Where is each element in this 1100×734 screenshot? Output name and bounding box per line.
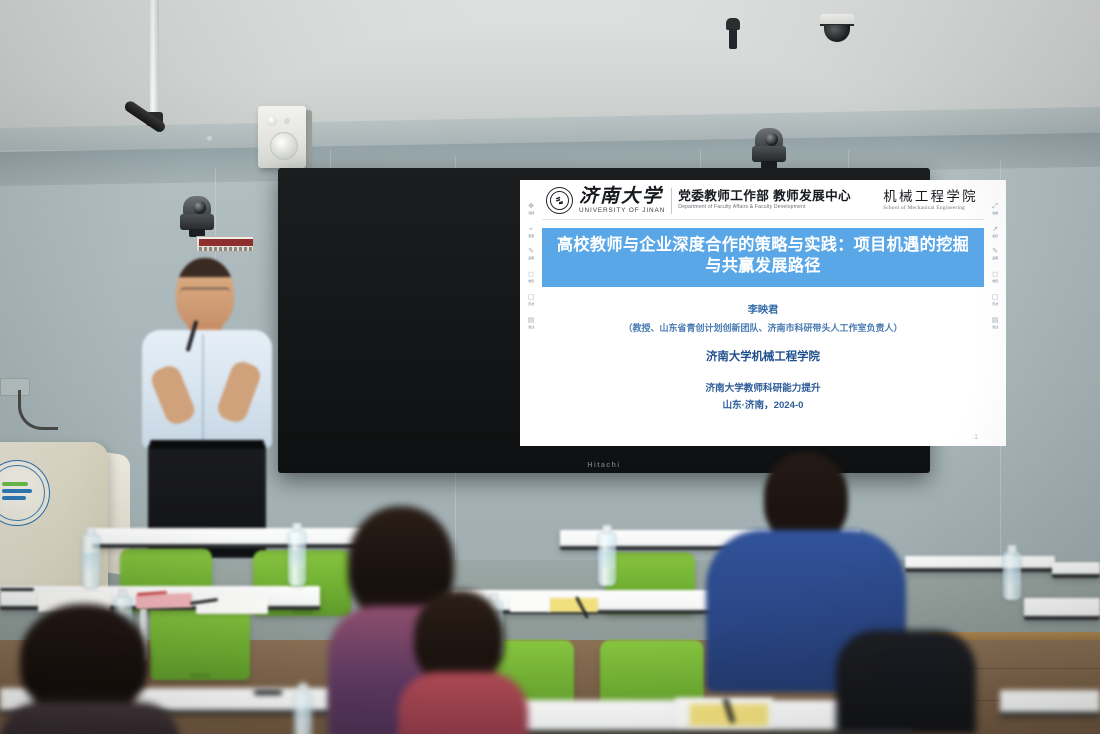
ptz-camera-left — [180, 196, 214, 236]
desk — [905, 556, 1055, 572]
warning-sign-text — [199, 247, 253, 252]
classroom-photo-scene: Hitachi ✥ 选择 ⌁ 套索 ✎ 画笔 ◻ 橡皮 — [0, 0, 1100, 734]
camera-lens-icon — [765, 133, 778, 146]
eraser-icon: ◻ — [991, 270, 1000, 279]
zoom-icon: ⤢ — [991, 202, 1000, 211]
handout-yellow — [548, 598, 598, 612]
toolbar-item-shape[interactable]: ▢ 形状 — [991, 293, 1000, 307]
slide-toolbar-right[interactable]: ⤢ 缩放 ↗ 指针 ✎ 画笔 ◻ 橡皮 ▢ 形状 — [984, 180, 1006, 446]
display-brand-logo: Hitachi — [587, 462, 620, 469]
toolbar-item-eraser[interactable]: ◻ 橡皮 — [991, 270, 1000, 284]
shape-icon: ▢ — [527, 293, 536, 302]
bottle-cap — [293, 523, 302, 532]
pen — [0, 588, 34, 591]
toolbar-item-pointer[interactable]: ↗ 指针 — [991, 225, 1000, 239]
header-divider — [671, 188, 672, 214]
audience-mid-left — [398, 590, 528, 734]
small-ceiling-camera — [726, 18, 740, 50]
toolbar-item-pen[interactable]: ✎ 画笔 — [527, 247, 536, 261]
select-icon: ✥ — [527, 202, 536, 211]
warning-sign-strip — [199, 239, 253, 246]
presenter-role: （教授、山东省青创计划创新团队、济南市科研带头人工作室负责人） — [623, 322, 902, 336]
lectern-emblem-icon — [0, 460, 50, 526]
toolbar-label: 形状 — [528, 303, 534, 306]
shape-icon: ▢ — [991, 293, 1000, 302]
water-bottle — [1003, 552, 1021, 600]
desk — [1052, 562, 1100, 578]
slide-body: 李映君 （教授、山东省青创计划创新团队、济南市科研带头人工作室负责人） 济南大学… — [542, 287, 984, 446]
toolbar-item-pen[interactable]: ✎ 画笔 — [991, 247, 1000, 261]
bottle-label — [289, 550, 305, 568]
university-name-block: 济南大学 UNIVERSITY OF JINAN — [579, 187, 665, 214]
frame-icon: ▤ — [991, 316, 1000, 325]
toolbar-label: 指针 — [992, 235, 998, 238]
bottle-label — [1004, 569, 1020, 585]
microphone-pole — [150, 0, 159, 118]
display-screen[interactable]: ✥ 选择 ⌁ 套索 ✎ 画笔 ◻ 橡皮 ▢ 形状 — [520, 180, 1006, 446]
bottle-label — [599, 551, 615, 569]
pen-icon: ✎ — [527, 247, 536, 256]
university-seal-icon — [546, 187, 573, 214]
event-name: 济南大学教师科研能力提升 — [705, 381, 820, 396]
toolbar-label: 批注 — [528, 326, 534, 329]
pointer-icon: ↗ — [991, 225, 1000, 234]
school-block: 机械工程学院 School of Mechanical Engineering — [883, 190, 978, 212]
slide-header: 济南大学 UNIVERSITY OF JINAN 党委教师工作部 教师发展中心 … — [542, 180, 984, 220]
speaker-led-icon — [284, 118, 290, 124]
ptz-head — [755, 128, 783, 148]
slide-title: 高校教师与企业深度合作的策略与实践：项目机遇的挖掘与共赢发展路径 — [542, 228, 984, 287]
presenter-glasses-icon — [180, 288, 230, 297]
toolbar-label: 选择 — [528, 212, 534, 215]
audience-head — [20, 604, 148, 716]
wall-sensor-dot — [207, 136, 212, 141]
presenter-belt — [150, 440, 264, 449]
toolbar-label: 套索 — [528, 235, 534, 238]
toolbar-item-select[interactable]: ✥ 选择 — [527, 202, 536, 216]
ptz-body — [180, 214, 214, 230]
water-bottle — [598, 532, 616, 586]
toolbar-item-frame[interactable]: ▤ 批注 — [527, 316, 536, 330]
presentation-slide[interactable]: 济南大学 UNIVERSITY OF JINAN 党委教师工作部 教师发展中心 … — [542, 180, 984, 446]
audience-legs — [836, 630, 976, 734]
water-bottle — [82, 534, 100, 588]
audience-bottom-left — [0, 604, 180, 734]
bottle-cap — [1008, 545, 1017, 554]
school-name-en: School of Mechanical Engineering — [883, 206, 978, 211]
bottle-cap — [603, 525, 612, 534]
wall-speaker — [258, 106, 306, 168]
speaker-woofer-icon — [270, 132, 298, 160]
warning-sign — [196, 236, 254, 252]
toolbar-label: 形状 — [992, 303, 998, 306]
toolbar-label: 画笔 — [528, 258, 534, 261]
eraser-icon: ◻ — [527, 270, 536, 279]
water-bottle — [288, 530, 306, 586]
slide-page-number: 1 — [974, 434, 978, 441]
university-name-cn: 济南大学 — [579, 187, 665, 206]
desk-edge — [1024, 616, 1100, 620]
ptz-head — [183, 196, 211, 216]
desk-edge — [905, 568, 1055, 572]
department-name-cn: 党委教师工作部 教师发展中心 — [678, 190, 851, 203]
desk-edge — [1052, 574, 1100, 578]
audience-lower-right — [836, 630, 976, 734]
lasso-icon: ⌁ — [527, 225, 536, 234]
presenter — [128, 258, 288, 558]
bottle-label — [295, 709, 311, 727]
bottle-cap — [299, 683, 308, 692]
frame-icon: ▤ — [527, 316, 536, 325]
toolbar-label: 橡皮 — [528, 280, 534, 283]
toolbar-item-zoom[interactable]: ⤢ 缩放 — [991, 202, 1000, 216]
pen — [254, 690, 282, 695]
slide-toolbar-left[interactable]: ✥ 选择 ⌁ 套索 ✎ 画笔 ◻ 橡皮 ▢ 形状 — [520, 180, 542, 446]
toolbar-label: 橡皮 — [992, 280, 998, 283]
university-name-en: UNIVERSITY OF JINAN — [579, 208, 665, 214]
ptz-camera-right — [752, 128, 786, 168]
bottle-label — [83, 553, 99, 571]
department-name-en: Department of Faculty Affairs & Faculty … — [678, 205, 851, 210]
small-camera-body — [729, 29, 737, 49]
presenter-name: 李映君 — [748, 301, 779, 316]
bottle-cap — [87, 527, 96, 536]
desk — [1024, 598, 1100, 620]
desk-edge — [1000, 712, 1100, 716]
desk — [1000, 690, 1100, 716]
emblem-wave-glyph — [2, 480, 32, 506]
school-name-cn: 机械工程学院 — [883, 190, 978, 204]
seal-glyph — [554, 195, 565, 206]
toolbar-item-shape[interactable]: ▢ 形状 — [527, 293, 536, 307]
shirt-placket — [202, 334, 204, 446]
camera-lens-icon — [193, 201, 206, 214]
department-block: 党委教师工作部 教师发展中心 Department of Faculty Aff… — [678, 190, 851, 211]
toolbar-item-lasso[interactable]: ⌁ 套索 — [527, 225, 536, 239]
toolbar-item-frame[interactable]: ▤ 批注 — [991, 316, 1000, 330]
interactive-flat-panel[interactable]: Hitachi ✥ 选择 ⌁ 套索 ✎ 画笔 ◻ 橡皮 — [278, 168, 930, 473]
water-bottle — [294, 690, 312, 734]
speaker-tweeter-icon — [267, 116, 277, 126]
audience-top — [398, 672, 528, 734]
dome-camera-lens-icon — [824, 25, 850, 42]
event-location-date: 山东·济南，2024-0 — [722, 398, 803, 413]
dome-camera — [820, 14, 854, 46]
presenter-organization: 济南大学机械工程学院 — [706, 348, 820, 364]
toolbar-label: 画笔 — [992, 258, 998, 261]
ptz-body — [752, 146, 786, 162]
pen-icon: ✎ — [991, 247, 1000, 256]
bottle-cap — [119, 589, 128, 598]
toolbar-item-eraser[interactable]: ◻ 橡皮 — [527, 270, 536, 284]
toolbar-label: 批注 — [992, 326, 998, 329]
toolbar-label: 缩放 — [992, 212, 998, 215]
audience-top — [0, 702, 180, 734]
